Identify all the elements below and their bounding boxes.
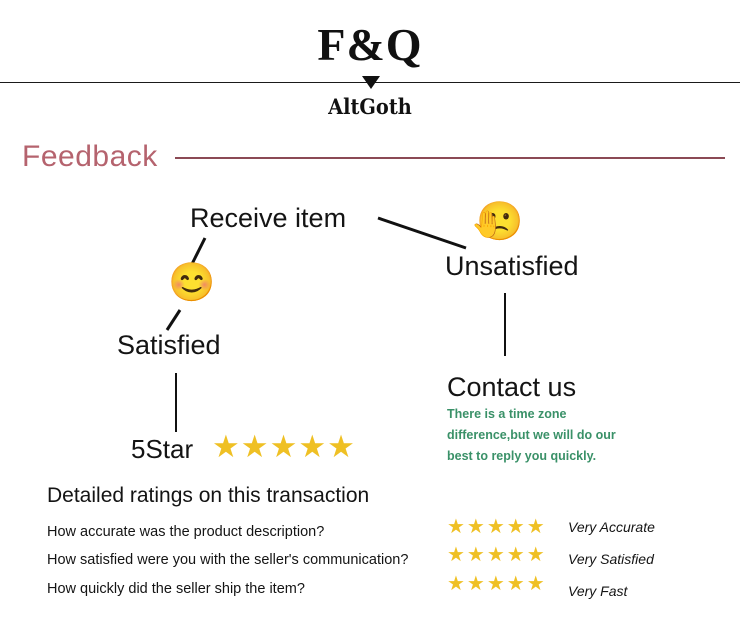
rating-stars: ★★★★★ [447, 517, 547, 537]
flow-node-satisfied: Satisfied [117, 330, 221, 361]
feedback-divider [175, 157, 725, 159]
rating-value: Very Accurate [568, 519, 655, 535]
rating-stars: ★★★★★ [447, 574, 547, 594]
smiling-face-icon: 😊 [168, 264, 215, 302]
flow-node-unsatisfied: Unsatisfied [445, 251, 579, 282]
brand-logo: AltGoth [30, 94, 711, 119]
rating-stars: ★★★★★ [447, 545, 547, 565]
rating-question: How satisfied were you with the seller's… [47, 552, 408, 568]
rating-question: How accurate was the product description… [47, 524, 324, 540]
flow-node-receive-item: Receive item [190, 203, 346, 234]
rating-value: Very Satisfied [568, 551, 654, 567]
triangle-down-icon [362, 76, 380, 89]
rating-value: Very Fast [568, 583, 627, 599]
raised-hand-icon: 🤚 [471, 211, 503, 237]
five-star-label: 5Star [131, 434, 193, 465]
rating-question: How quickly did the seller ship the item… [47, 581, 305, 597]
five-star-rating-stars: ★★★★★ [212, 431, 356, 462]
contact-us-note: There is a time zone difference,but we w… [447, 404, 632, 467]
detailed-ratings-title: Detailed ratings on this transaction [47, 484, 369, 508]
contact-us-title: Contact us [447, 372, 576, 403]
page-title: F&Q [0, 22, 740, 68]
section-title-feedback: Feedback [22, 140, 158, 174]
